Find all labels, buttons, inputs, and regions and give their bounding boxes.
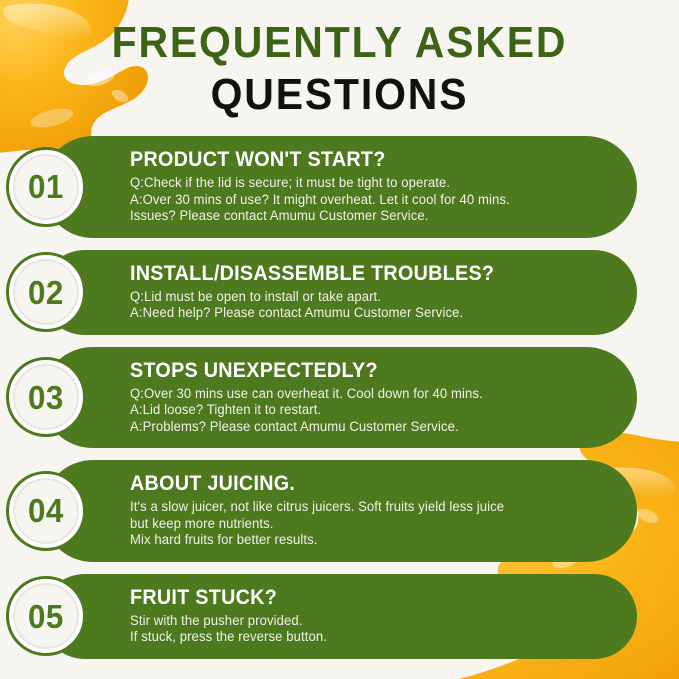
- page-header: FREQUENTLY ASKED QUESTIONS: [0, 18, 679, 120]
- faq-item-04[interactable]: 04 ABOUT JUICING. It's a slow juicer, no…: [42, 460, 637, 562]
- faq-body-line: Mix hard fruits for better results.: [130, 532, 593, 549]
- faq-number-05: 05: [28, 600, 64, 633]
- faq-number-01: 01: [28, 170, 64, 203]
- faq-number-02: 02: [28, 276, 64, 309]
- faq-item-02[interactable]: 02 INSTALL/DISASSEMBLE TROUBLES? Q:Lid m…: [42, 250, 637, 335]
- faq-heading-05: FRUIT STUCK?: [130, 585, 578, 610]
- page-title-line-2: QUESTIONS: [24, 70, 655, 120]
- faq-number-badge-02: 02: [6, 252, 86, 332]
- faq-heading-03: STOPS UNEXPECTEDLY?: [130, 358, 578, 383]
- faq-heading-02: INSTALL/DISASSEMBLE TROUBLES?: [130, 261, 578, 286]
- faq-item-05[interactable]: 05 FRUIT STUCK? Stir with the pusher pro…: [42, 574, 637, 659]
- faq-body-line: It's a slow juicer, not like citrus juic…: [130, 499, 593, 516]
- faq-body-line: A:Lid loose? Tighten it to restart.: [130, 402, 593, 419]
- faq-number-badge-04: 04: [6, 471, 86, 551]
- faq-body-05: Stir with the pusher provided. If stuck,…: [130, 613, 607, 646]
- faq-body-03: Q:Over 30 mins use can overheat it. Cool…: [130, 386, 607, 436]
- faq-body-line: Q:Check if the lid is secure; it must be…: [130, 175, 593, 192]
- faq-infographic: FREQUENTLY ASKED QUESTIONS 01 PRODUCT WO…: [0, 0, 679, 679]
- faq-body-01: Q:Check if the lid is secure; it must be…: [130, 175, 607, 225]
- faq-item-01[interactable]: 01 PRODUCT WON'T START? Q:Check if the l…: [42, 136, 637, 238]
- faq-body-02: Q:Lid must be open to install or take ap…: [130, 289, 607, 322]
- faq-body-line: If stuck, press the reverse button.: [130, 629, 593, 646]
- faq-number-badge-01: 01: [6, 147, 86, 227]
- faq-heading-04: ABOUT JUICING.: [130, 471, 578, 496]
- page-title-line-1: FREQUENTLY ASKED: [24, 18, 655, 68]
- faq-heading-01: PRODUCT WON'T START?: [130, 147, 578, 172]
- faq-body-line: Q:Lid must be open to install or take ap…: [130, 289, 593, 306]
- faq-body-line: A:Problems? Please contact Amumu Custome…: [130, 419, 593, 436]
- faq-number-badge-03: 03: [6, 357, 86, 437]
- faq-number-badge-05: 05: [6, 576, 86, 656]
- faq-body-line: Stir with the pusher provided.: [130, 613, 593, 630]
- faq-number-04: 04: [28, 494, 64, 527]
- faq-body-04: It's a slow juicer, not like citrus juic…: [130, 499, 607, 549]
- faq-body-line: A:Need help? Please contact Amumu Custom…: [130, 305, 593, 322]
- faq-body-line: but keep more nutrients.: [130, 516, 593, 533]
- faq-body-line: A:Over 30 mins of use? It might overheat…: [130, 192, 593, 209]
- faq-body-line: Q:Over 30 mins use can overheat it. Cool…: [130, 386, 593, 403]
- faq-number-03: 03: [28, 381, 64, 414]
- faq-body-line: Issues? Please contact Amumu Customer Se…: [130, 208, 593, 225]
- faq-list: 01 PRODUCT WON'T START? Q:Check if the l…: [0, 136, 679, 671]
- faq-item-03[interactable]: 03 STOPS UNEXPECTEDLY? Q:Over 30 mins us…: [42, 347, 637, 449]
